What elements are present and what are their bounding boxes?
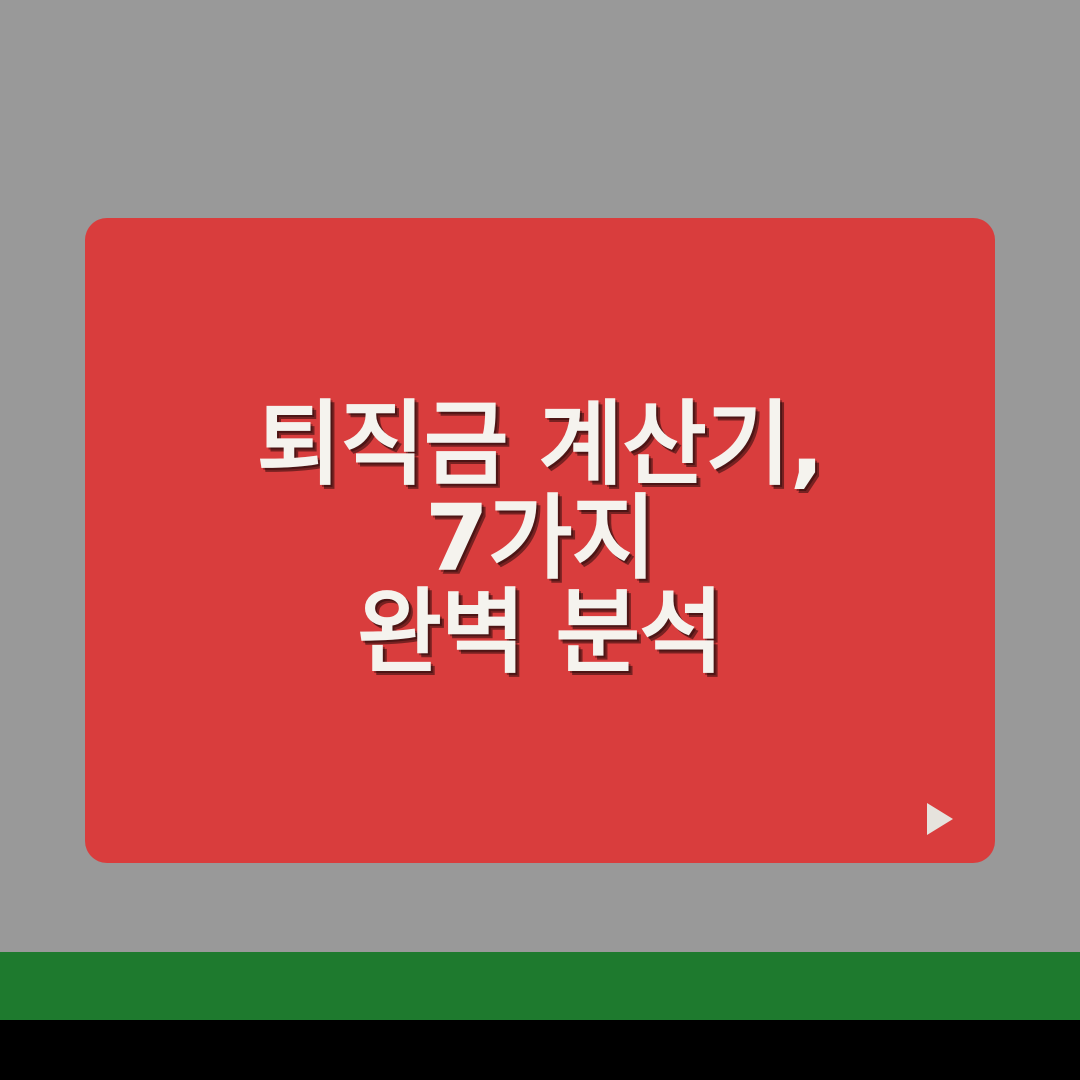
green-accent-band [0,952,1080,1020]
canvas: 퇴직금 계산기, 7가지 완벽 분석 [0,0,1080,1080]
play-triangle-icon[interactable] [927,803,953,835]
footer-bar [0,1020,1080,1080]
page-title: 퇴직금 계산기, 7가지 완벽 분석 [85,398,995,679]
title-card: 퇴직금 계산기, 7가지 완벽 분석 [85,218,995,863]
